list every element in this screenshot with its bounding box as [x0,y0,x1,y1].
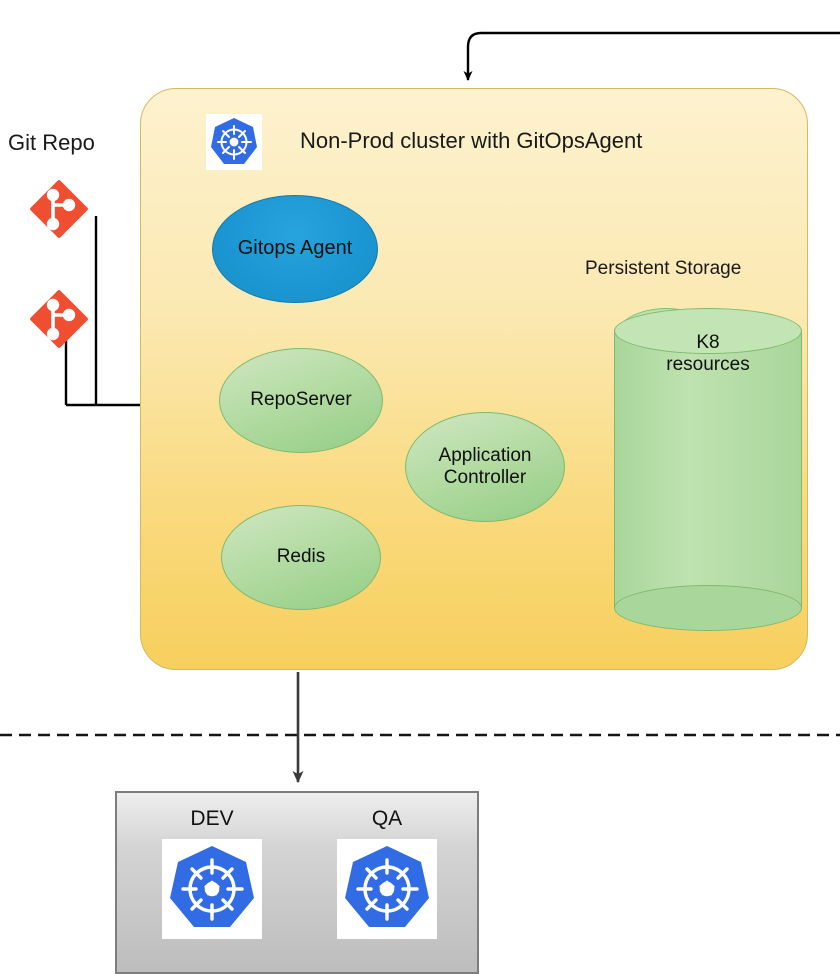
git-repo-icon-1[interactable] [26,176,92,242]
repo-server-label: RepoServer [250,389,351,411]
k8-resources-label-line2: resources [666,354,749,375]
application-controller-node[interactable]: Application Controller [405,412,565,522]
environments-box: DEV [115,791,479,974]
kubernetes-icon [337,839,437,939]
cluster-title: Non-Prod cluster with GitOpsAgent [300,128,770,154]
kubernetes-icon [206,114,262,170]
k8-resources-label-line1: K8 [696,332,719,353]
redis-node[interactable]: Redis [221,505,381,610]
git-repo-icon-2[interactable] [26,286,92,352]
git-repo-label: Git Repo [8,130,95,156]
diagram-canvas: Git Repo [0,0,840,974]
k8-resources-label: K8 resources [614,332,802,376]
cylinder-bottom-cap [614,585,802,631]
gitops-agent-node[interactable]: Gitops Agent [212,195,378,303]
persistent-storage-cylinder: K8 resources Apps Secrets Config Map [614,308,802,630]
redis-label: Redis [277,546,326,568]
repo-server-node[interactable]: RepoServer [219,348,383,453]
environment-dev[interactable]: DEV [147,807,277,939]
environment-qa-label: QA [322,807,452,831]
persistent-storage-label: Persistent Storage [585,258,741,280]
environment-dev-label: DEV [147,807,277,831]
connector-external-to-cluster [468,33,840,80]
application-controller-label: Application Controller [439,445,532,489]
environment-qa[interactable]: QA [322,807,452,939]
application-controller-label-line2: Controller [444,467,526,488]
application-controller-label-line1: Application [439,445,532,466]
kubernetes-icon [162,839,262,939]
gitops-agent-label: Gitops Agent [238,237,353,260]
